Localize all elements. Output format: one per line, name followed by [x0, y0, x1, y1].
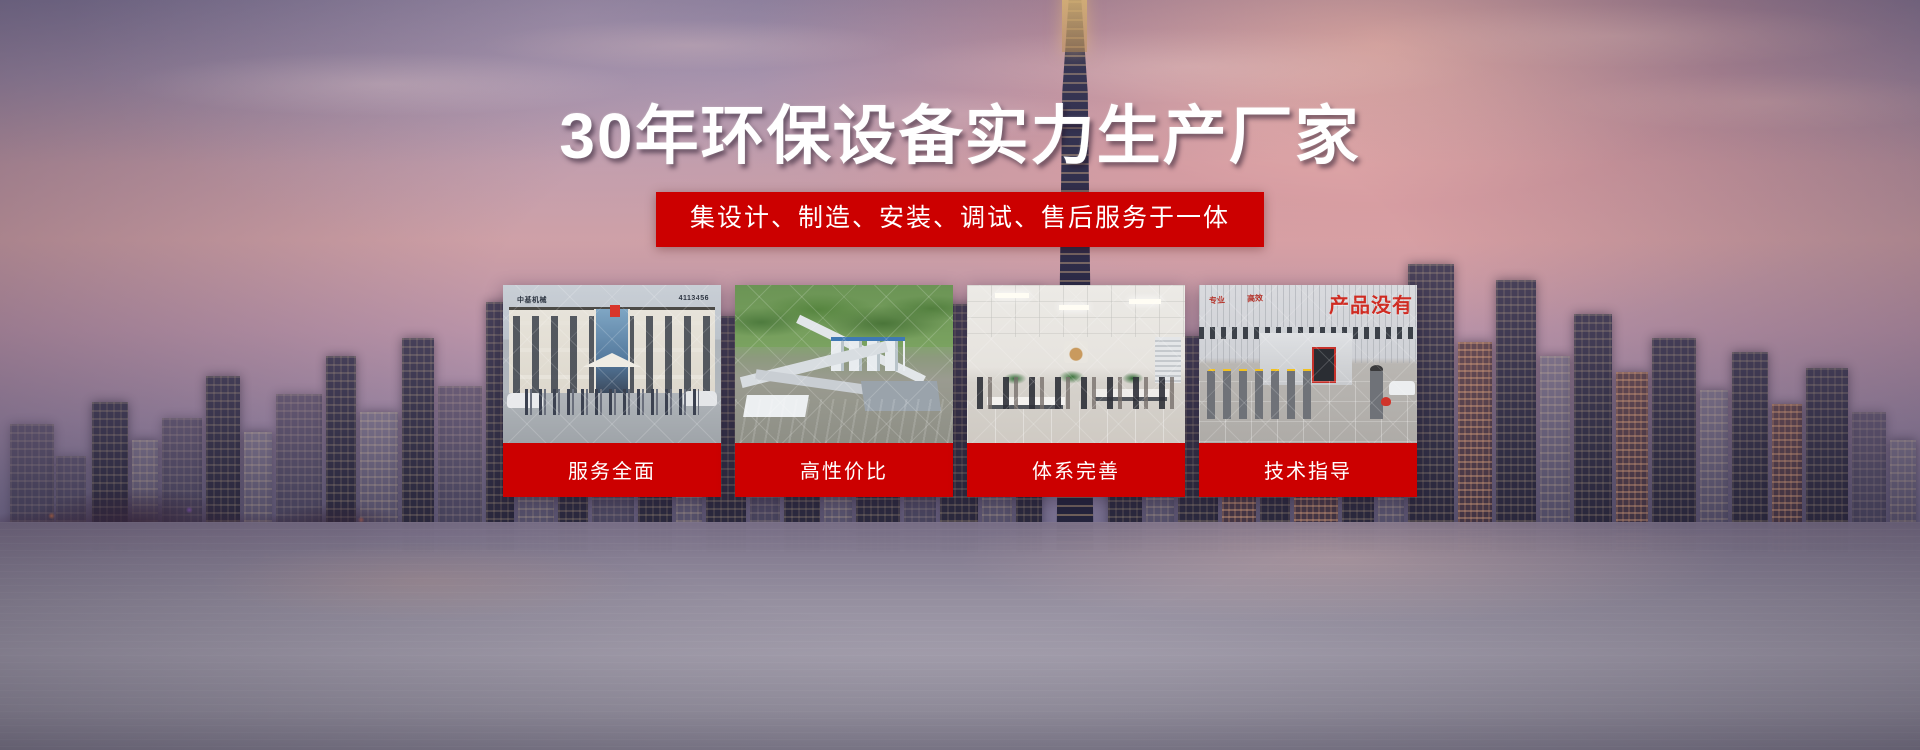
feature-card-system[interactable]: 体系完善: [967, 285, 1185, 497]
feature-card-service[interactable]: 中基机械 4113456 服务全面: [503, 285, 721, 497]
company-sign-text: 中基机械: [517, 295, 547, 305]
hero-headline: 30年环保设备实力生产厂家: [0, 104, 1920, 168]
feature-card-value[interactable]: 高性价比: [735, 285, 953, 497]
card-caption-guidance: 技术指导: [1199, 443, 1417, 497]
company-phone-text: 4113456: [679, 295, 709, 305]
card-caption-service: 服务全面: [503, 443, 721, 497]
factory-wall-sign: 产品没有: [1329, 289, 1413, 318]
feature-card-row: 中基机械 4113456 服务全面: [503, 285, 1417, 497]
aerial-industrial-plant-photo: [735, 285, 953, 443]
factory-workers-training-photo: 专业 高效 产品没有: [1199, 285, 1417, 443]
factory-slogan-right: 高效: [1247, 292, 1264, 304]
feature-card-guidance[interactable]: 专业 高效 产品没有 技术指导: [1199, 285, 1417, 497]
card-caption-system: 体系完善: [967, 443, 1185, 497]
card-caption-value: 高性价比: [735, 443, 953, 497]
flag-icon: [610, 305, 620, 317]
office-interior-staff-photo: [967, 285, 1185, 443]
office-building-staff-photo: 中基机械 4113456: [503, 285, 721, 443]
hero-banner: 30年环保设备实力生产厂家 集设计、制造、安装、调试、售后服务于一体 中基机械 …: [0, 0, 1920, 750]
hero-subtitle-banner: 集设计、制造、安装、调试、售后服务于一体: [656, 192, 1264, 247]
factory-slogan-left: 专业: [1209, 294, 1226, 306]
